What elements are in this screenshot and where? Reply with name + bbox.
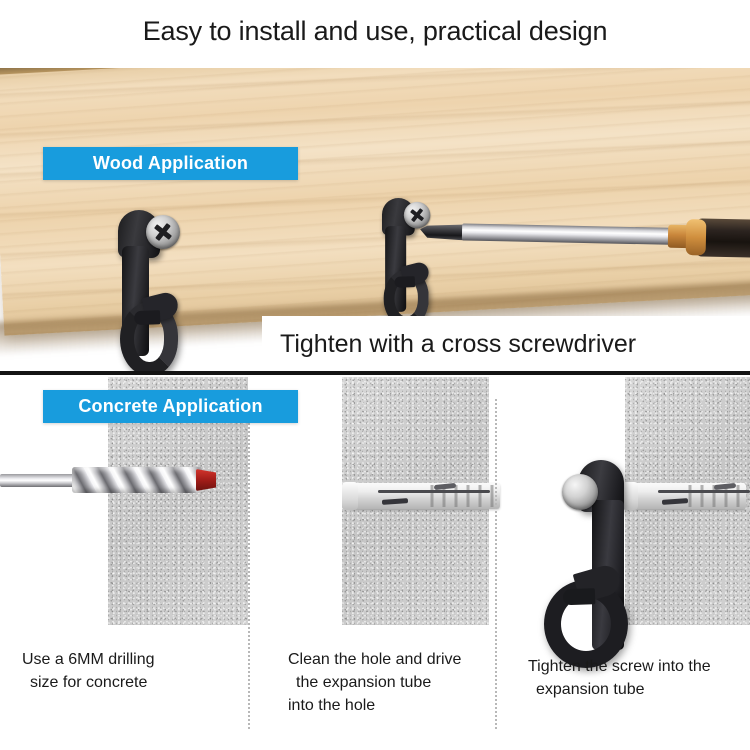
panel-divider xyxy=(495,399,497,729)
page-title: Easy to install and use, practical desig… xyxy=(0,16,750,47)
caption-line: Tighten the screw into the xyxy=(528,655,743,678)
step-caption-anchor: Clean the hole and drive the expansion t… xyxy=(288,648,493,718)
screwdriver-shaft xyxy=(462,223,672,244)
step-caption-drill: Use a 6MM drilling size for concrete xyxy=(22,648,237,694)
anchor-slot xyxy=(658,490,750,493)
masonry-drill-bit-icon xyxy=(0,467,222,493)
step-caption-hook: Tighten the screw into the expansion tub… xyxy=(528,655,743,701)
anchor-ribs xyxy=(680,485,742,507)
phillips-screw-icon xyxy=(146,215,180,249)
anchor-slot xyxy=(378,490,490,493)
wood-caption-band: Tighten with a cross screwdriver xyxy=(262,316,750,372)
phillips-screw-icon xyxy=(562,474,598,510)
caption-line: Clean the hole and drive xyxy=(288,648,493,671)
caption-line: the expansion tube xyxy=(288,671,493,694)
drill-carbide-tip xyxy=(196,469,216,491)
anchor-collar xyxy=(622,482,638,510)
caption-line: size for concrete xyxy=(22,671,237,694)
screwdriver-handle xyxy=(696,218,750,258)
panel-divider xyxy=(248,399,250,729)
screwdriver-tip xyxy=(420,224,466,241)
wood-application-badge: Wood Application xyxy=(43,147,298,180)
anchor-collar xyxy=(342,482,358,510)
infographic-page: Easy to install and use, practical desig… xyxy=(0,0,750,750)
wood-caption-text: Tighten with a cross screwdriver xyxy=(262,330,636,359)
caption-line: into the hole xyxy=(288,694,493,717)
caption-line: expansion tube xyxy=(528,678,743,701)
drill-flute xyxy=(72,467,202,493)
concrete-application-badge: Concrete Application xyxy=(43,390,298,423)
drill-shank xyxy=(0,474,78,487)
cross-screwdriver-icon xyxy=(420,215,750,256)
caption-line: Use a 6MM drilling xyxy=(22,648,237,671)
